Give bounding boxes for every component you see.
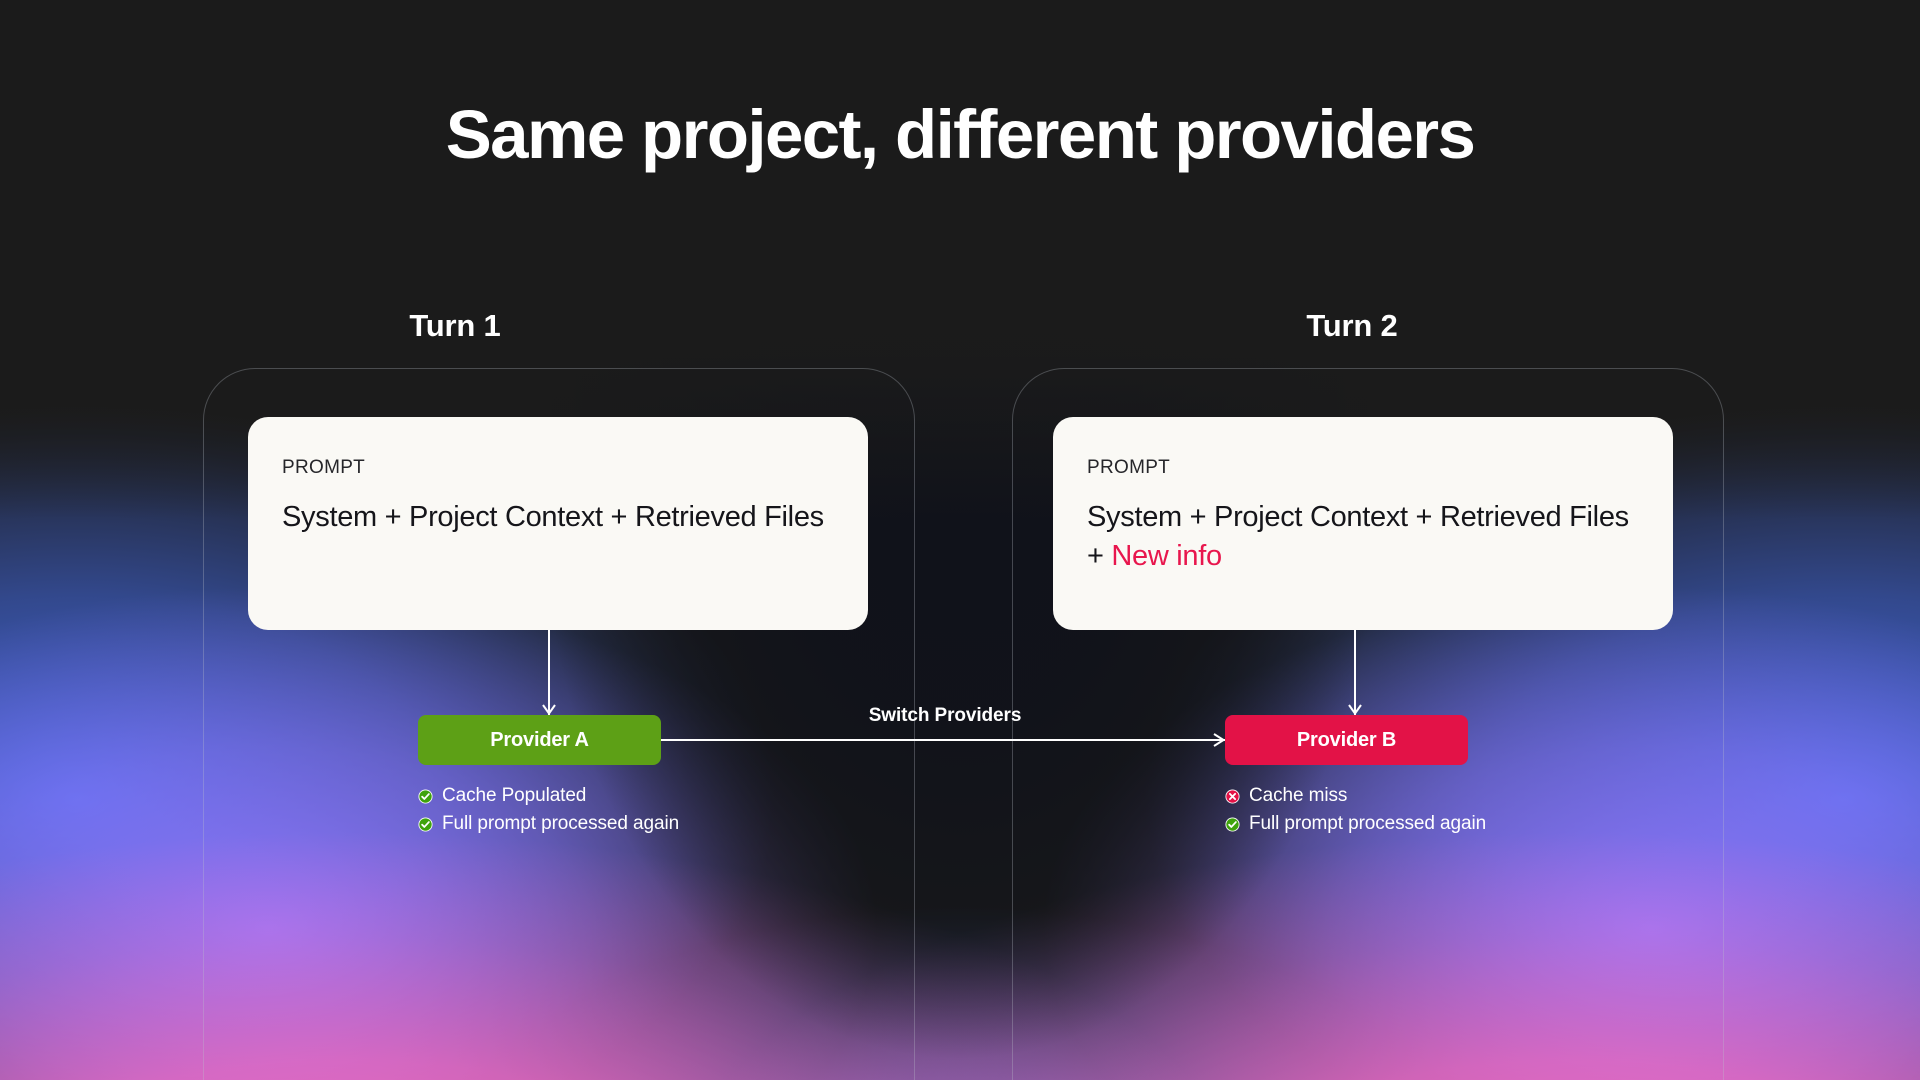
- page-title: Same project, different providers: [0, 95, 1920, 174]
- arrow-head-right-icon: [1213, 733, 1225, 747]
- prompt-card-turn-1: PROMPT System + Project Context + Retrie…: [248, 417, 868, 630]
- arrow-head-down-icon: [542, 704, 556, 715]
- prompt-text-1: System + Project Context + Retrieved Fil…: [282, 498, 834, 537]
- arrow-shaft: [661, 739, 1225, 741]
- check-circle-icon: [1225, 817, 1240, 832]
- check-circle-icon: [418, 789, 433, 804]
- diagram-stage: Same project, different providers Turn 1…: [0, 0, 1920, 1080]
- provider-b-label: Provider B: [1297, 729, 1396, 752]
- switch-providers-label: Switch Providers: [760, 705, 1130, 727]
- arrow-prompt-to-provider-a: [542, 630, 556, 715]
- prompt-text-2-highlight: New info: [1111, 540, 1221, 572]
- provider-a-label: Provider A: [490, 729, 588, 752]
- prompt-text-2: System + Project Context + Retrieved Fil…: [1087, 498, 1639, 577]
- arrow-switch-providers: [661, 733, 1225, 747]
- status-item-label: Full prompt processed again: [442, 813, 679, 835]
- turn-label-2: Turn 2: [1207, 308, 1497, 344]
- status-item-label: Cache Populated: [442, 785, 586, 807]
- provider-a-button[interactable]: Provider A: [418, 715, 661, 765]
- status-list-turn-2: Cache miss Full prompt processed again: [1225, 785, 1486, 841]
- prompt-text-1-base: System + Project Context + Retrieved Fil…: [282, 501, 824, 533]
- prompt-card-turn-2: PROMPT System + Project Context + Retrie…: [1053, 417, 1673, 630]
- arrow-shaft: [1354, 630, 1356, 715]
- status-item: Cache Populated: [418, 785, 679, 807]
- status-item-label: Full prompt processed again: [1249, 813, 1486, 835]
- prompt-kicker-2: PROMPT: [1087, 457, 1639, 479]
- prompt-kicker-1: PROMPT: [282, 457, 834, 479]
- turn-label-1: Turn 1: [310, 308, 600, 344]
- status-item: Cache miss: [1225, 785, 1486, 807]
- check-circle-icon: [418, 817, 433, 832]
- arrow-prompt-to-provider-b: [1348, 630, 1362, 715]
- status-item: Full prompt processed again: [1225, 813, 1486, 835]
- status-item: Full prompt processed again: [418, 813, 679, 835]
- arrow-shaft: [548, 630, 550, 715]
- arrow-head-down-icon: [1348, 704, 1362, 715]
- provider-b-button[interactable]: Provider B: [1225, 715, 1468, 765]
- status-item-label: Cache miss: [1249, 785, 1347, 807]
- x-circle-icon: [1225, 789, 1240, 804]
- status-list-turn-1: Cache Populated Full prompt processed ag…: [418, 785, 679, 841]
